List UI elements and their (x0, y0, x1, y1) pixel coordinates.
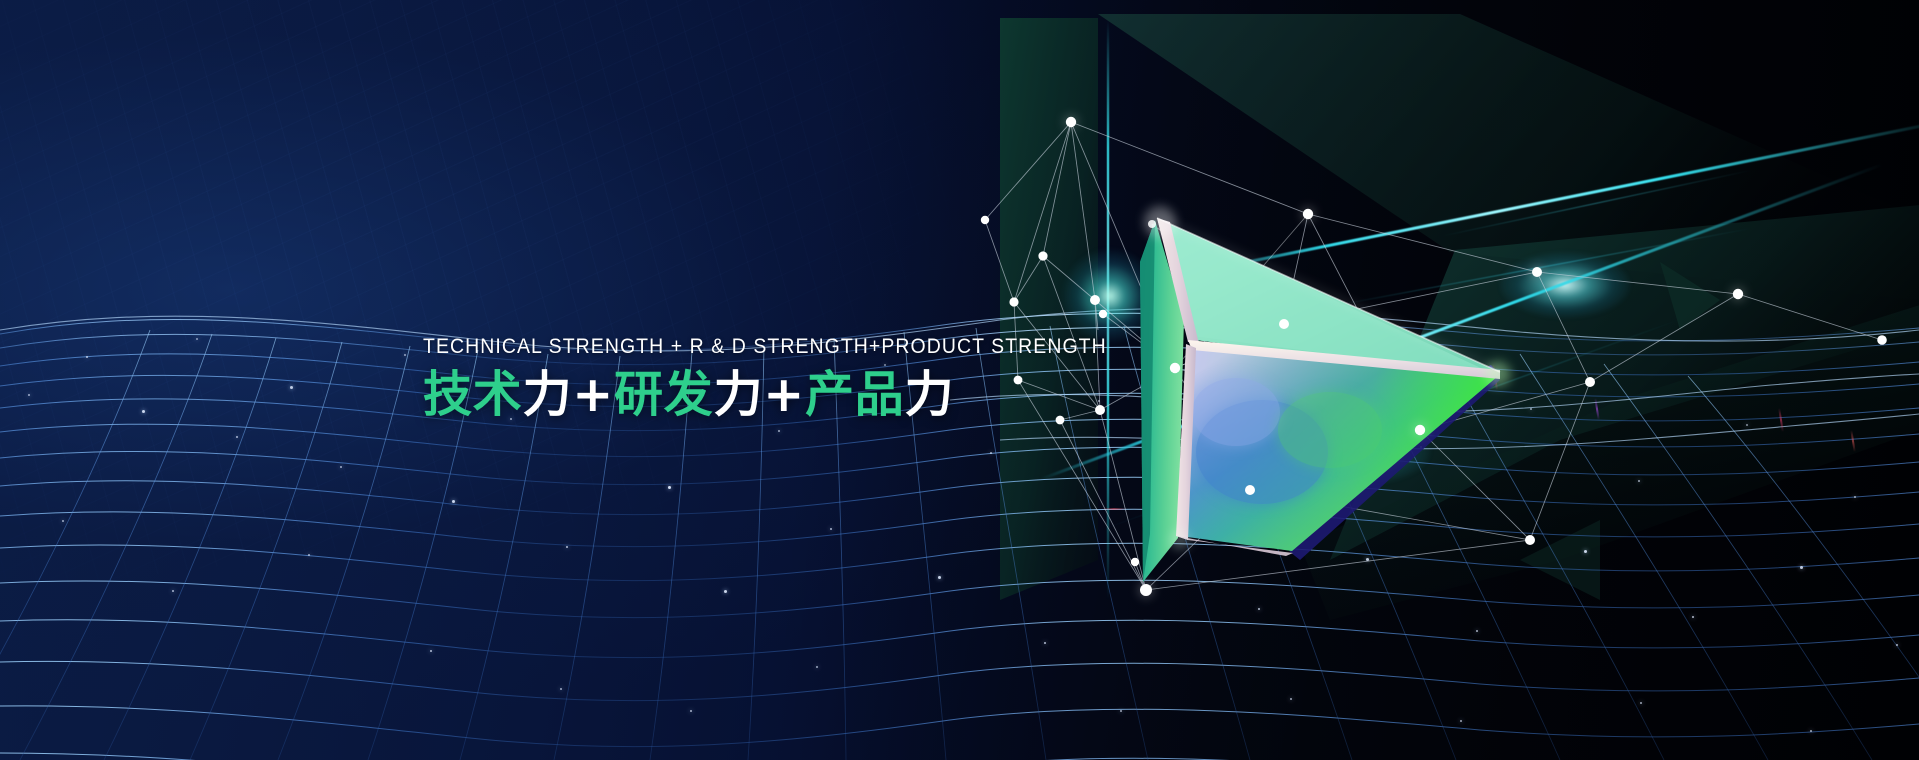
headline-cn-seg-1: 力 (522, 366, 572, 423)
headline-cn-seg-7: 力 (905, 366, 955, 423)
arrow-logo (1140, 206, 1511, 582)
headline-cn-seg-2: + (572, 366, 614, 423)
headline-block: TECHNICAL STRENGTH + R & D STRENGTH+PROD… (423, 336, 1063, 420)
headline-cn-seg-4: 力 (714, 366, 764, 423)
headline-english: TECHNICAL STRENGTH + R & D STRENGTH+PROD… (423, 336, 1002, 358)
headline-cn-seg-0: 技术 (423, 366, 522, 423)
headline-cn-seg-3: 研发 (614, 366, 713, 423)
headline-cn-seg-5: + (763, 366, 805, 423)
headline-chinese: 技术力+研发力+产品力 (423, 369, 1063, 421)
headline-cn-seg-6: 产品 (805, 366, 904, 423)
hero-banner: TECHNICAL STRENGTH + R & D STRENGTH+PROD… (0, 0, 1919, 760)
